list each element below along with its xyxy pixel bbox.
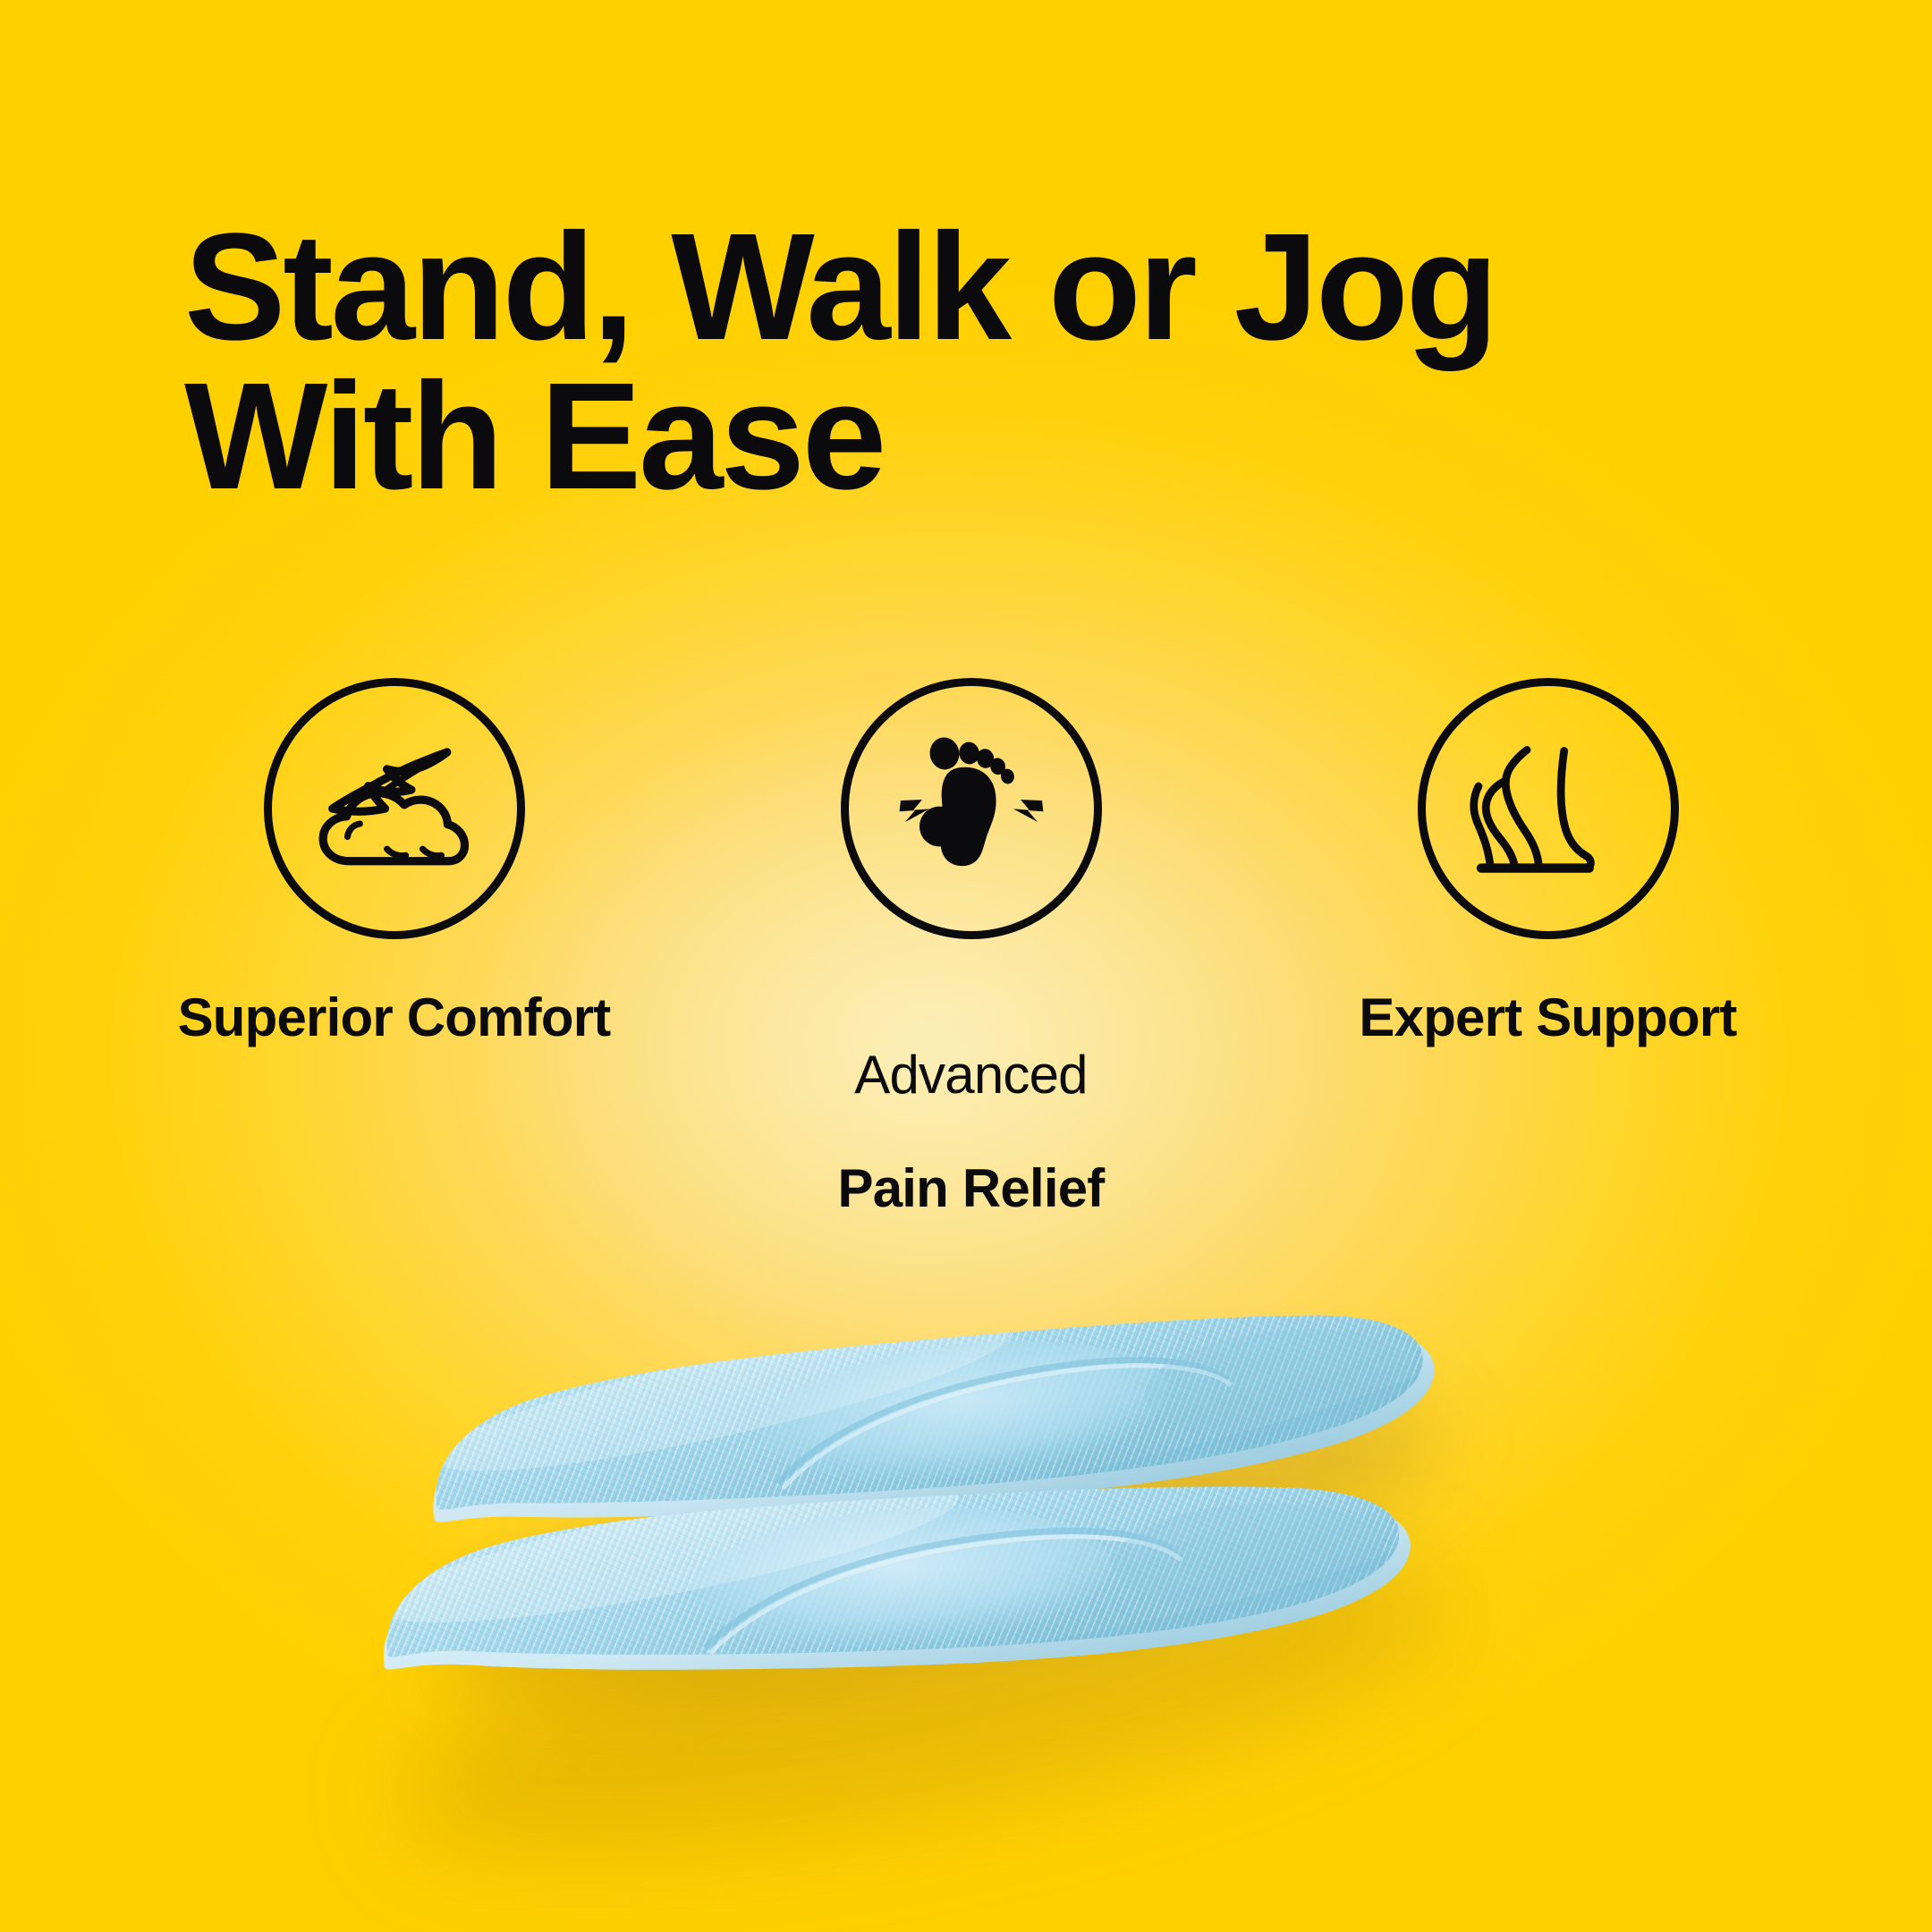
feature-advanced-pain-relief: Advanced Pain Relief bbox=[682, 678, 1259, 1274]
feature-label-line-2: Pain Relief bbox=[838, 1160, 1105, 1217]
feature-expert-support: Expert Support bbox=[1259, 678, 1836, 1274]
product-marketing-image: Stand, Walk or Jog With Ease bbox=[0, 0, 1932, 1932]
foot-pain-lightning-icon bbox=[882, 719, 1061, 898]
feature-label: Advanced Pain Relief bbox=[838, 989, 1105, 1274]
feature-label: Superior Comfort bbox=[178, 989, 611, 1046]
product-image-memory-foam-insole-pair bbox=[0, 1234, 1932, 1932]
feature-icon-frame bbox=[264, 678, 525, 939]
feature-label: Expert Support bbox=[1359, 989, 1736, 1046]
feature-superior-comfort: Superior Comfort bbox=[106, 678, 682, 1274]
arch-support-foot-icon bbox=[1455, 716, 1641, 902]
feature-row: Superior Comfort bbox=[0, 678, 1932, 1274]
feature-icon-frame bbox=[841, 678, 1102, 939]
feature-icon-frame bbox=[1418, 678, 1679, 939]
feature-label-line-1: Advanced bbox=[838, 1046, 1105, 1104]
page-title: Stand, Walk or Jog With Ease bbox=[184, 213, 1758, 511]
feather-cloud-icon bbox=[301, 715, 488, 902]
